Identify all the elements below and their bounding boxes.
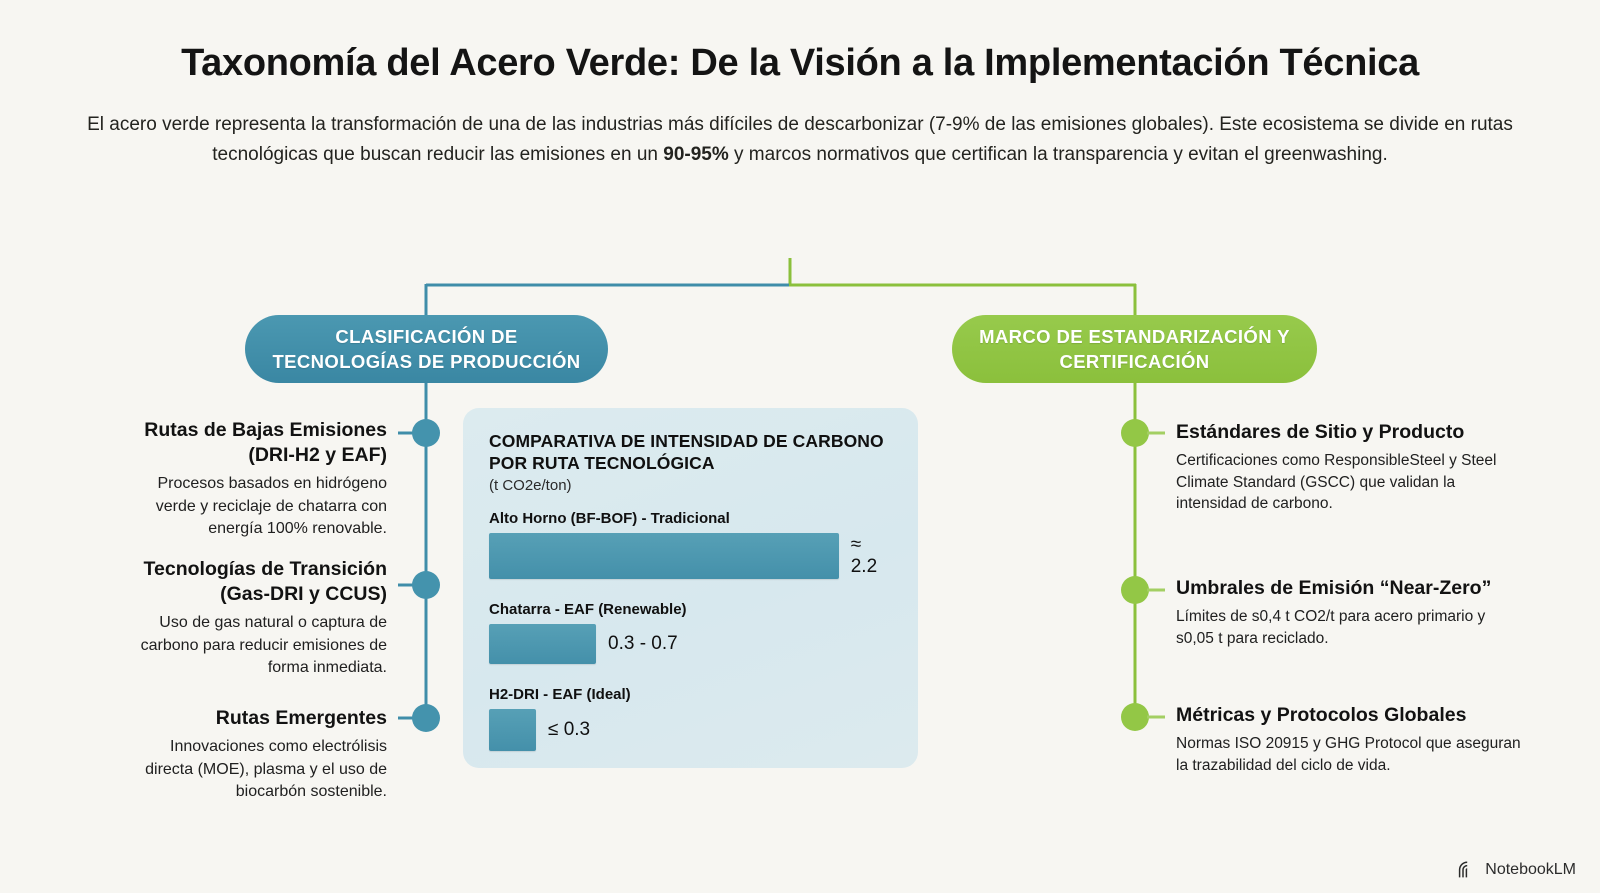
list-item-left-2-body: Uso de gas natural o captura de carbono … bbox=[122, 612, 387, 680]
timeline-dot-left-1 bbox=[412, 419, 440, 447]
list-item-right-1-heading: Estándares de Sitio y Producto bbox=[1176, 420, 1521, 445]
list-item-left-3-heading: Rutas Emergentes bbox=[122, 706, 387, 731]
bar-row-2: 0.3 - 0.7 bbox=[489, 624, 892, 664]
bar-value-3: ≤ 0.3 bbox=[548, 719, 590, 741]
list-item-left-1-body: Procesos basados en hidrógeno verde y re… bbox=[122, 473, 387, 541]
page-title: Taxonomía del Acero Verde: De la Visión … bbox=[0, 42, 1600, 85]
subtitle-line-2-suffix: y marcos normativos que certifican la tr… bbox=[729, 144, 1388, 165]
timeline-dot-right-3 bbox=[1121, 703, 1149, 731]
bar-2 bbox=[489, 624, 596, 664]
bar-group-2: Chatarra - EAF (Renewable) 0.3 - 0.7 bbox=[489, 601, 892, 664]
list-item-left-3[interactable]: Rutas Emergentes Innovaciones como elect… bbox=[122, 706, 387, 804]
list-item-left-1-heading: Rutas de Bajas Emisiones (DRI-H2 y EAF) bbox=[122, 418, 387, 468]
infographic-canvas: Taxonomía del Acero Verde: De la Visión … bbox=[0, 0, 1600, 893]
chart-unit-label: (t CO2e/ton) bbox=[489, 477, 892, 494]
bar-label-1: Alto Horno (BF-BOF) - Tradicional bbox=[489, 510, 892, 527]
branch-header-standardization-label: MARCO DE ESTANDARIZACIÓN Y CERTIFICACIÓN bbox=[974, 324, 1295, 374]
list-item-right-3-body: Normas ISO 20915 y GHG Protocol que aseg… bbox=[1176, 733, 1521, 776]
bar-row-3: ≤ 0.3 bbox=[489, 709, 892, 751]
list-item-right-1[interactable]: Estándares de Sitio y Producto Certifica… bbox=[1176, 420, 1521, 515]
bar-group-3: H2-DRI - EAF (Ideal) ≤ 0.3 bbox=[489, 686, 892, 751]
notebooklm-label: NotebookLM bbox=[1485, 861, 1576, 879]
bar-value-2: 0.3 - 0.7 bbox=[608, 633, 678, 655]
bar-value-1: ≈ 2.2 bbox=[851, 534, 892, 578]
notebooklm-icon bbox=[1458, 861, 1478, 879]
bar-1 bbox=[489, 533, 839, 579]
timeline-dot-left-3 bbox=[412, 704, 440, 732]
bar-row-1: ≈ 2.2 bbox=[489, 533, 892, 579]
list-item-left-1[interactable]: Rutas de Bajas Emisiones (DRI-H2 y EAF) … bbox=[122, 418, 387, 541]
list-item-left-2[interactable]: Tecnologías de Transición (Gas-DRI y CCU… bbox=[122, 557, 387, 680]
list-item-left-2-heading: Tecnologías de Transición (Gas-DRI y CCU… bbox=[122, 557, 387, 607]
list-item-right-3-heading: Métricas y Protocolos Globales bbox=[1176, 703, 1521, 728]
branch-header-technologies-label: CLASIFICACIÓN DE TECNOLOGÍAS DE PRODUCCI… bbox=[267, 324, 586, 374]
subtitle-highlight: 90-95% bbox=[663, 144, 729, 165]
bar-group-1: Alto Horno (BF-BOF) - Tradicional ≈ 2.2 bbox=[489, 510, 892, 579]
bar-3 bbox=[489, 709, 536, 751]
timeline-dot-right-2 bbox=[1121, 576, 1149, 604]
list-item-right-2[interactable]: Umbrales de Emisión “Near-Zero” Límites … bbox=[1176, 576, 1521, 649]
list-item-left-3-body: Innovaciones como electrólisis directa (… bbox=[122, 736, 387, 804]
timeline-dot-left-2 bbox=[412, 571, 440, 599]
page-subtitle: El acero verde representa la transformac… bbox=[74, 110, 1526, 170]
list-item-right-2-body: Límites de s0,4 t CO2/t para acero prima… bbox=[1176, 606, 1521, 649]
bar-label-2: Chatarra - EAF (Renewable) bbox=[489, 601, 892, 618]
timeline-dot-right-1 bbox=[1121, 419, 1149, 447]
branch-header-standardization[interactable]: MARCO DE ESTANDARIZACIÓN Y CERTIFICACIÓN bbox=[952, 315, 1317, 383]
list-item-right-1-body: Certificaciones como ResponsibleSteel y … bbox=[1176, 450, 1521, 515]
list-item-right-3[interactable]: Métricas y Protocolos Globales Normas IS… bbox=[1176, 703, 1521, 776]
subtitle-line-1: El acero verde representa la transformac… bbox=[87, 114, 1384, 135]
notebooklm-watermark: NotebookLM bbox=[1458, 861, 1576, 879]
carbon-intensity-chart-card: COMPARATIVA DE INTENSIDAD DE CARBONO POR… bbox=[463, 408, 918, 768]
chart-title: COMPARATIVA DE INTENSIDAD DE CARBONO POR… bbox=[489, 430, 892, 474]
list-item-right-2-heading: Umbrales de Emisión “Near-Zero” bbox=[1176, 576, 1521, 601]
branch-header-technologies[interactable]: CLASIFICACIÓN DE TECNOLOGÍAS DE PRODUCCI… bbox=[245, 315, 608, 383]
bar-label-3: H2-DRI - EAF (Ideal) bbox=[489, 686, 892, 703]
